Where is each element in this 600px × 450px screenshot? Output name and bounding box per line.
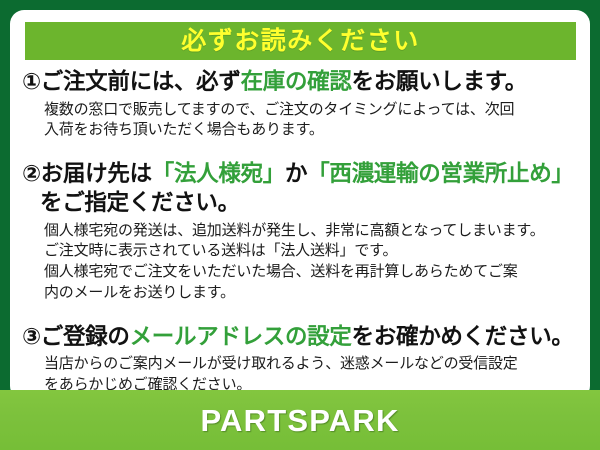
notice-item-1-body-line-2: 入荷をお待ち頂いただく場合もあります。 [44,120,580,141]
notice-card: 必ずお読みください ①ご注文前には、必ず在庫の確認をお願いします。 複数の窓口で… [10,10,590,400]
notice-item-1-headline: ①ご注文前には、必ず在庫の確認をお願いします。 [22,68,580,97]
notice-item-3: ③ご登録のメールアドレスの設定をお確かめください。 当店からのご案内メールが受け… [10,323,590,396]
notice-title-bar: 必ずお読みください [25,22,576,60]
notice-item-2-body-line-3: 個人様宅宛でご注文をいただいた場合、送料を再計算しあらためてご案 [44,262,580,283]
notice-footer: PARTSPARK [0,390,600,450]
notice-item-2-marker: ② [22,161,41,186]
notice-item-2-body-line-4: 内のメールをお送りします。 [44,283,580,304]
notice-item-2: ②お届け先は「法人様宛」か「西濃運輸の営業所止め」をご指定ください。 個人様宅宛… [10,160,590,303]
notice-item-3-head-before: ご登録の [41,324,130,349]
notice-item-2-head-line-2: をご指定ください。 [40,189,580,218]
notice-item-1-body: 複数の窓口で販売してますので、ご注文のタイミングによっては、次回 入荷をお待ち頂… [44,100,580,141]
notice-item-3-marker: ③ [22,324,41,349]
notice-item-1-head-before: ご注文前には、必ず [41,69,241,94]
notice-item-3-body-line-1: 当店からのご案内メールが受け取れるよう、迷惑メールなどの受信設定 [44,354,580,375]
notice-item-1: ①ご注文前には、必ず在庫の確認をお願いします。 複数の窓口で販売してますので、ご… [10,68,590,141]
notice-item-2-head-middle: か [285,161,307,186]
notice-item-3-head-highlight: メールアドレスの設定 [130,324,352,349]
notice-item-2-head-before: お届け先は [41,161,152,186]
brand-logo-partspark: PARTSPARK [200,405,399,436]
notice-item-1-marker: ① [22,69,41,94]
notice-item-1-body-line-1: 複数の窓口で販売してますので、ご注文のタイミングによっては、次回 [44,100,580,121]
notice-item-2-body-line-2: ご注文時に表示されている送料は「法人送料」です。 [44,241,580,262]
notice-item-1-head-after: をお願いします。 [352,69,527,94]
notice-item-1-head-highlight: 在庫の確認 [241,69,352,94]
notice-item-2-head-highlight-2: 「西濃運輸の営業所止め」 [307,161,573,186]
notice-banner: 必ずお読みください ①ご注文前には、必ず在庫の確認をお願いします。 複数の窓口で… [0,0,600,450]
notice-items-list: ①ご注文前には、必ず在庫の確認をお願いします。 複数の窓口で販売してますので、ご… [10,68,590,396]
notice-item-2-body: 個人様宅宛の発送は、追加送料が発生し、非常に高額となってしまいます。 ご注文時に… [44,221,580,304]
notice-item-3-headline: ③ご登録のメールアドレスの設定をお確かめください。 [22,323,580,352]
notice-item-2-headline: ②お届け先は「法人様宛」か「西濃運輸の営業所止め」をご指定ください。 [22,160,580,218]
notice-title: 必ずお読みください [181,29,420,54]
notice-item-3-head-after: をお確かめください。 [352,324,574,349]
notice-item-2-head-highlight: 「法人様宛」 [152,161,285,186]
notice-item-2-body-line-1: 個人様宅宛の発送は、追加送料が発生し、非常に高額となってしまいます。 [44,221,580,242]
